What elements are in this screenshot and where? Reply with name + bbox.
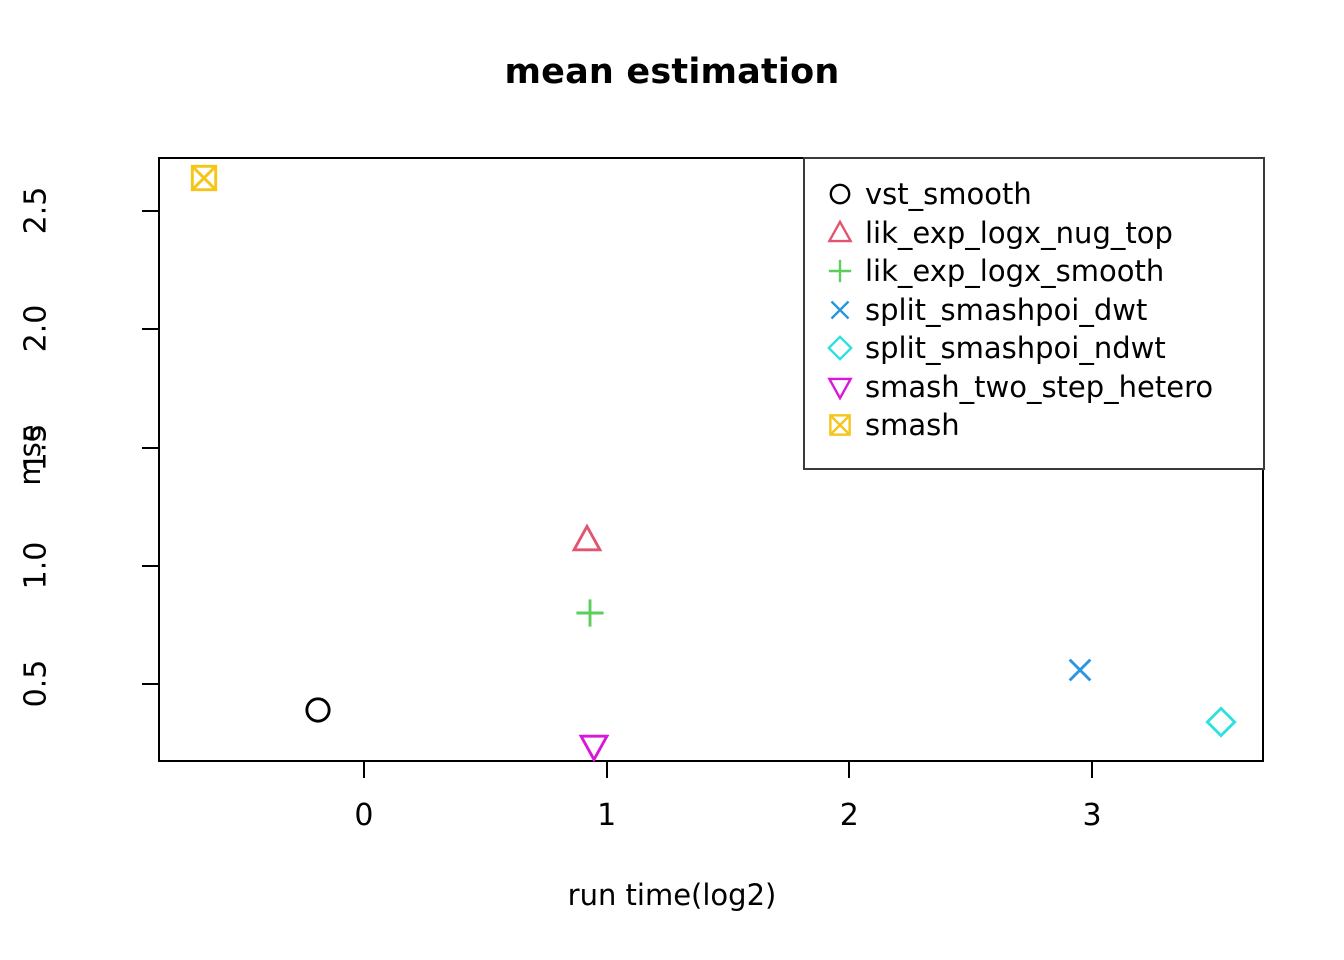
data-point-lik-exp-logx-smooth: [573, 596, 607, 630]
y-tick-label: 0.5: [19, 624, 54, 744]
legend-box: vst_smoothlik_exp_logx_nug_toplik_exp_lo…: [803, 157, 1265, 470]
legend-item-label: split_smashpoi_dwt: [861, 295, 1147, 325]
x-tick-mark: [1091, 762, 1093, 778]
x-tick-label: 1: [567, 798, 647, 833]
legend-item-label: lik_exp_logx_nug_top: [861, 218, 1173, 248]
data-point-smash-two-step-hetero: [577, 729, 611, 763]
legend-item[interactable]: lik_exp_logx_smooth: [819, 252, 1263, 291]
plus-icon: [819, 255, 861, 287]
y-tick-label: 2.0: [19, 269, 54, 389]
legend-item-label: smash_two_step_hetero: [861, 372, 1213, 402]
y-axis-title: mse: [13, 395, 47, 515]
scatter-plot-figure: mean estimation 0.51.01.52.02.5 0123 mse…: [0, 0, 1344, 960]
triangle-down-icon: [819, 371, 861, 403]
legend-item-label: split_smashpoi_ndwt: [861, 333, 1166, 363]
legend-item-label: smash: [861, 410, 960, 440]
x-tick-label: 2: [809, 798, 889, 833]
diamond-icon: [819, 332, 861, 364]
x-tick-mark: [606, 762, 608, 778]
cross-icon: [819, 294, 861, 326]
legend-item[interactable]: split_smashpoi_ndwt: [819, 329, 1263, 368]
x-axis-title: run time(log2): [0, 878, 1344, 912]
data-point-vst-smooth: [301, 693, 335, 727]
circle-icon: [819, 178, 861, 210]
data-point-smash: [187, 161, 221, 195]
square-cross-icon: [819, 409, 861, 441]
y-tick-mark: [142, 565, 158, 567]
legend-item[interactable]: lik_exp_logx_nug_top: [819, 214, 1263, 253]
legend-item-label: vst_smooth: [861, 179, 1032, 209]
legend-item-label: lik_exp_logx_smooth: [861, 256, 1164, 286]
data-point-lik-exp-logx-nug-top: [570, 523, 604, 557]
data-point-split-smashpoi-ndwt: [1204, 705, 1238, 739]
legend-item[interactable]: split_smashpoi_dwt: [819, 291, 1263, 330]
y-tick-label: 2.5: [19, 151, 54, 271]
chart-title: mean estimation: [0, 52, 1344, 92]
triangle-up-icon: [819, 217, 861, 249]
x-tick-mark: [848, 762, 850, 778]
y-tick-label: 1.0: [19, 505, 54, 625]
x-tick-label: 3: [1052, 798, 1132, 833]
x-tick-mark: [363, 762, 365, 778]
data-point-split-smashpoi-dwt: [1063, 653, 1097, 687]
legend-item[interactable]: smash: [819, 406, 1263, 445]
y-tick-mark: [142, 447, 158, 449]
legend-item[interactable]: smash_two_step_hetero: [819, 368, 1263, 407]
y-tick-mark: [142, 328, 158, 330]
legend-item[interactable]: vst_smooth: [819, 175, 1263, 214]
x-tick-label: 0: [324, 798, 404, 833]
y-tick-mark: [142, 210, 158, 212]
y-tick-mark: [142, 683, 158, 685]
